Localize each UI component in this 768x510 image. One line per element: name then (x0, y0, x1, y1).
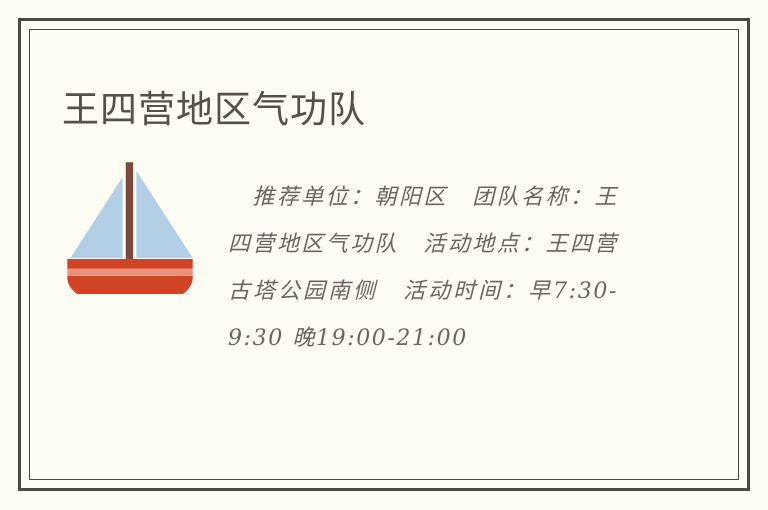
page-root: 王四营地区气功队 推荐单位：朝阳区 团队名 (0, 0, 768, 510)
page-title: 王四营地区气功队 (62, 87, 366, 133)
team-info-paragraph: 推荐单位：朝阳区 团队名称：王四营地区气功队 活动地点：王四营古塔公园南侧 活动… (228, 174, 618, 362)
sailboat-icon (62, 158, 198, 294)
page-content: 王四营地区气功队 推荐单位：朝阳区 团队名 (0, 0, 768, 510)
